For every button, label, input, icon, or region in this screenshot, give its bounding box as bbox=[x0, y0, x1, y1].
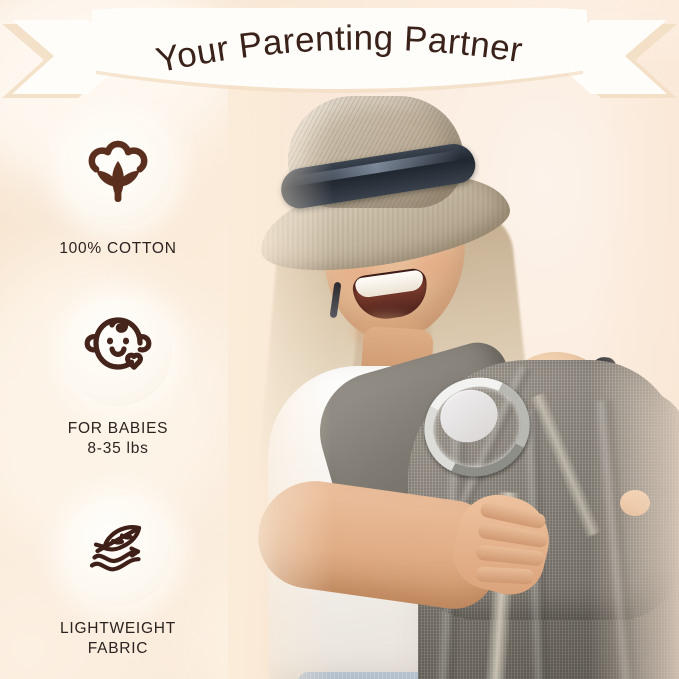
feature-list: 100% COTTON bbox=[0, 0, 236, 679]
feature-badge bbox=[64, 298, 172, 406]
cotton-boll-icon bbox=[77, 131, 159, 213]
feature-label-cotton: 100% COTTON bbox=[0, 239, 236, 259]
feather-fabric-icon bbox=[77, 511, 159, 593]
finger bbox=[476, 566, 535, 584]
feature-label-line1: LIGHTWEIGHT bbox=[60, 620, 176, 637]
feature-label-lightweight: LIGHTWEIGHT FABRIC bbox=[0, 619, 236, 659]
feature-item-babies[interactable]: FOR BABIES 8-35 lbs bbox=[0, 298, 236, 459]
feature-label-babies: FOR BABIES 8-35 lbs bbox=[0, 419, 236, 459]
feature-badge bbox=[64, 118, 172, 226]
lifestyle-photo bbox=[228, 60, 679, 679]
baby-hand bbox=[620, 490, 650, 516]
baby-icon-eye bbox=[123, 338, 129, 345]
feature-item-lightweight[interactable]: LIGHTWEIGHT FABRIC bbox=[0, 498, 236, 659]
feature-badge bbox=[64, 498, 172, 606]
feature-item-cotton[interactable]: 100% COTTON bbox=[0, 118, 236, 259]
baby-face-icon bbox=[77, 311, 159, 393]
feature-label-line1: FOR BABIES bbox=[68, 420, 169, 437]
feature-label-line2: 8-35 lbs bbox=[0, 439, 236, 459]
feature-label-line2: FABRIC bbox=[0, 639, 236, 659]
baby-icon-eye bbox=[107, 338, 113, 345]
product-feature-image: Your Parenting Partner bbox=[0, 0, 679, 679]
feature-label-line1: 100% COTTON bbox=[59, 240, 176, 257]
